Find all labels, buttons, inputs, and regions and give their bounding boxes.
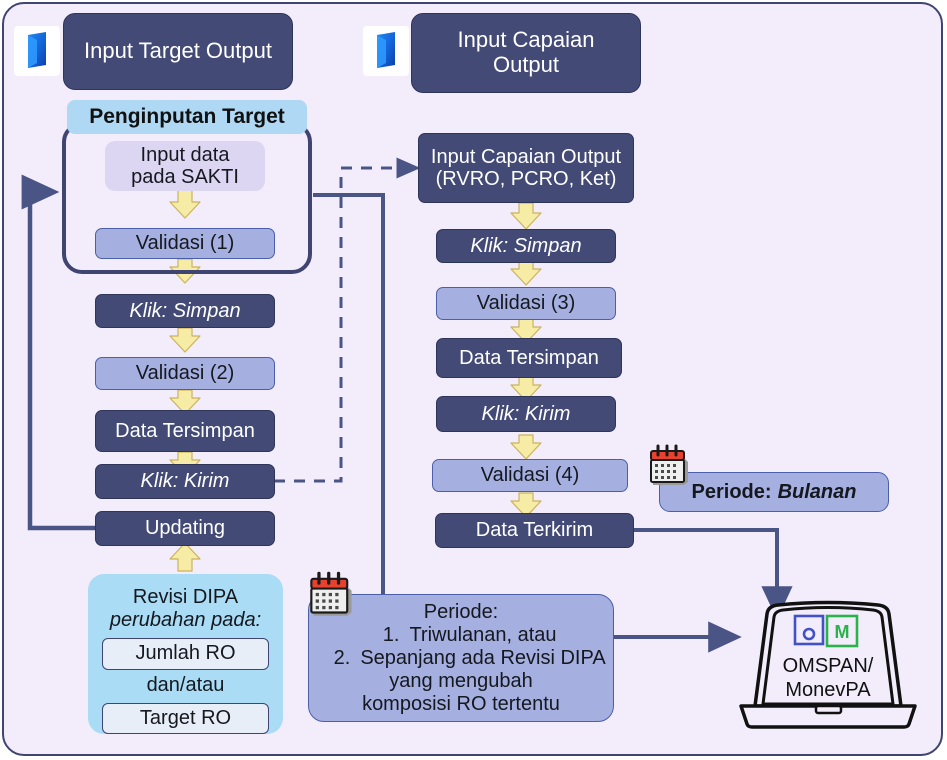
calendar-icon-glyph-2 — [307, 570, 357, 618]
destination-line1: OMSPAN/ — [733, 654, 923, 678]
node-right-data-tersimpan[interactable]: Data Tersimpan — [436, 338, 622, 378]
node-left-data-tersimpan-label: Data Tersimpan — [115, 420, 255, 442]
node-input-data-sakti-line2: pada SAKTI — [131, 166, 239, 188]
node-updating[interactable]: Updating — [95, 511, 275, 546]
periode-bulanan-prefix: Periode: — [692, 481, 772, 504]
calendar-icon-glyph-1 — [647, 443, 693, 487]
periode-triwulanan-item-2: 2. Sepanjang ada Revisi DIPA — [316, 647, 605, 670]
periode-triwulanan-item-1-text: Triwulanan, atau — [409, 624, 556, 647]
node-validasi-2[interactable]: Validasi (2) — [95, 357, 275, 390]
node-input-data-sakti-line1: Input data — [141, 144, 230, 166]
periode-bulanan-value: Bulanan — [778, 481, 857, 504]
revisi-item-jumlah-ro[interactable]: Jumlah RO — [102, 638, 269, 670]
periode-bulanan-box: Periode: Bulanan — [659, 472, 889, 512]
sakti-logo-glyph — [25, 32, 49, 70]
sakti-app-icon-left — [14, 26, 60, 76]
header-left-label: Input Target Output — [84, 39, 272, 64]
sakti-app-icon-right — [363, 26, 409, 76]
node-validasi-2-label: Validasi (2) — [136, 362, 235, 384]
node-right-klik-kirim[interactable]: Klik: Kirim — [436, 396, 616, 432]
node-right-data-tersimpan-label: Data Tersimpan — [459, 347, 599, 369]
node-input-capaian-output-line2: (RVRO, PCRO, Ket) — [436, 168, 617, 190]
periode-triwulanan-item-1: 1. Triwulanan, atau — [365, 624, 556, 647]
revisi-connector: dan/atau — [147, 674, 225, 697]
omspan-monevpa-destination[interactable]: M OMSPAN/ MonevPA — [733, 588, 923, 730]
diagram-canvas: Input Target Output Input Capaian Output… — [0, 0, 947, 760]
revisi-item-target-ro-label: Target RO — [140, 707, 231, 730]
node-input-capaian-output[interactable]: Input Capaian Output (RVRO, PCRO, Ket) — [418, 133, 634, 203]
node-validasi-4[interactable]: Validasi (4) — [432, 459, 628, 492]
header-right-label: Input Capaian Output — [424, 28, 628, 77]
node-validasi-3-label: Validasi (3) — [477, 292, 576, 314]
header-right-input-capaian-output[interactable]: Input Capaian Output — [411, 13, 641, 93]
calendar-icon-triwulanan — [307, 570, 357, 623]
node-updating-label: Updating — [145, 517, 225, 539]
calendar-icon-bulanan — [647, 443, 693, 492]
node-right-klik-simpan-label: Klik: Simpan — [470, 235, 581, 257]
node-right-klik-simpan[interactable]: Klik: Simpan — [436, 229, 616, 263]
svg-text:M: M — [835, 622, 850, 642]
destination-line2: MonevPA — [733, 678, 923, 702]
periode-triwulanan-cont-1: yang mengubah — [389, 670, 532, 693]
node-validasi-1-label: Validasi (1) — [136, 232, 235, 254]
periode-triwulanan-item-2-num: 2. — [316, 647, 360, 670]
periode-triwulanan-cont-2: komposisi RO tertentu — [362, 693, 560, 716]
node-validasi-3[interactable]: Validasi (3) — [436, 287, 616, 320]
revisi-item-jumlah-ro-label: Jumlah RO — [135, 642, 235, 665]
header-left-input-target-output[interactable]: Input Target Output — [63, 13, 293, 90]
revisi-line2: perubahan pada: — [110, 609, 261, 632]
node-input-capaian-output-line1: Input Capaian Output — [431, 146, 621, 168]
node-validasi-4-label: Validasi (4) — [481, 464, 580, 486]
revisi-item-target-ro[interactable]: Target RO — [102, 703, 269, 735]
revisi-dipa-box: Revisi DIPA perubahan pada: Jumlah RO da… — [88, 574, 283, 734]
node-left-klik-simpan[interactable]: Klik: Simpan — [95, 294, 275, 328]
node-validasi-1[interactable]: Validasi (1) — [95, 228, 275, 259]
node-right-klik-kirim-label: Klik: Kirim — [482, 403, 571, 425]
periode-triwulanan-item-1-num: 1. — [365, 624, 409, 647]
node-data-terkirim[interactable]: Data Terkirim — [435, 513, 634, 548]
node-data-terkirim-label: Data Terkirim — [476, 519, 593, 541]
node-left-klik-kirim-label: Klik: Kirim — [141, 470, 230, 492]
penginputan-target-title: Penginputan Target — [67, 100, 307, 134]
node-left-data-tersimpan[interactable]: Data Tersimpan — [95, 410, 275, 452]
node-left-klik-simpan-label: Klik: Simpan — [129, 300, 240, 322]
sakti-logo-glyph-right — [374, 32, 398, 70]
periode-triwulanan-item-2-text: Sepanjang ada Revisi DIPA — [360, 647, 605, 670]
node-input-data-sakti[interactable]: Input data pada SAKTI — [105, 141, 265, 191]
revisi-line1: Revisi DIPA — [133, 586, 238, 609]
periode-triwulanan-title: Periode: — [424, 601, 499, 624]
node-left-klik-kirim[interactable]: Klik: Kirim — [95, 464, 275, 499]
group-title-label: Penginputan Target — [89, 105, 285, 129]
